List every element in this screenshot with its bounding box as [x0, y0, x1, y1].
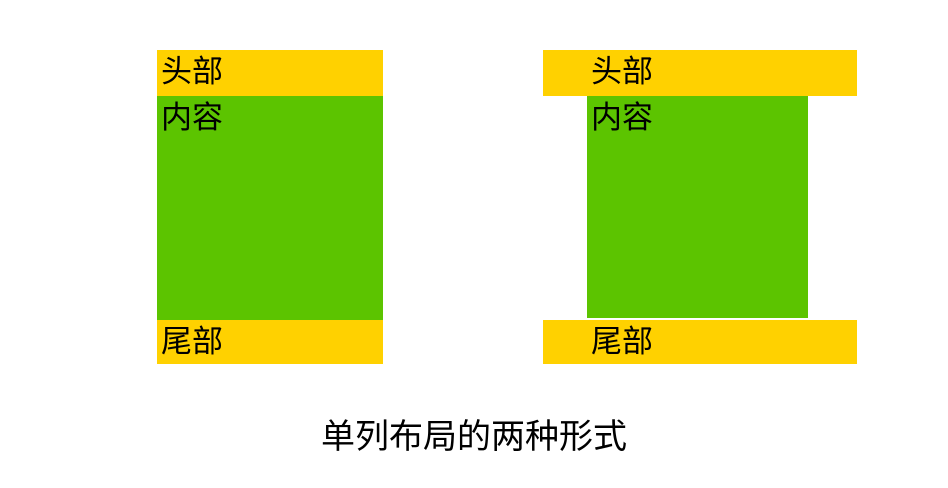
- inset-footer-band: 尾部: [543, 320, 857, 364]
- diagram-caption: 单列布局的两种形式: [0, 415, 948, 459]
- diagram-canvas: 头部 内容 尾部 头部 内容 尾部 单列布局的两种形式: [0, 0, 948, 488]
- figure-equal-width-single-column: 头部 内容 尾部: [157, 50, 383, 364]
- flush-content-band: 内容: [157, 96, 383, 320]
- figure-inset-content-single-column: 头部 内容 尾部: [543, 50, 857, 364]
- flush-header-label: 头部: [161, 50, 223, 94]
- inset-footer-label: 尾部: [591, 320, 653, 364]
- flush-footer-label: 尾部: [161, 320, 223, 364]
- inset-header-band: 头部: [543, 50, 857, 96]
- flush-content-label: 内容: [161, 96, 223, 140]
- flush-footer-band: 尾部: [157, 320, 383, 364]
- inset-header-label: 头部: [591, 50, 653, 94]
- flush-header-band: 头部: [157, 50, 383, 96]
- inset-content-label: 内容: [591, 96, 653, 140]
- inset-content-band: 内容: [587, 96, 808, 318]
